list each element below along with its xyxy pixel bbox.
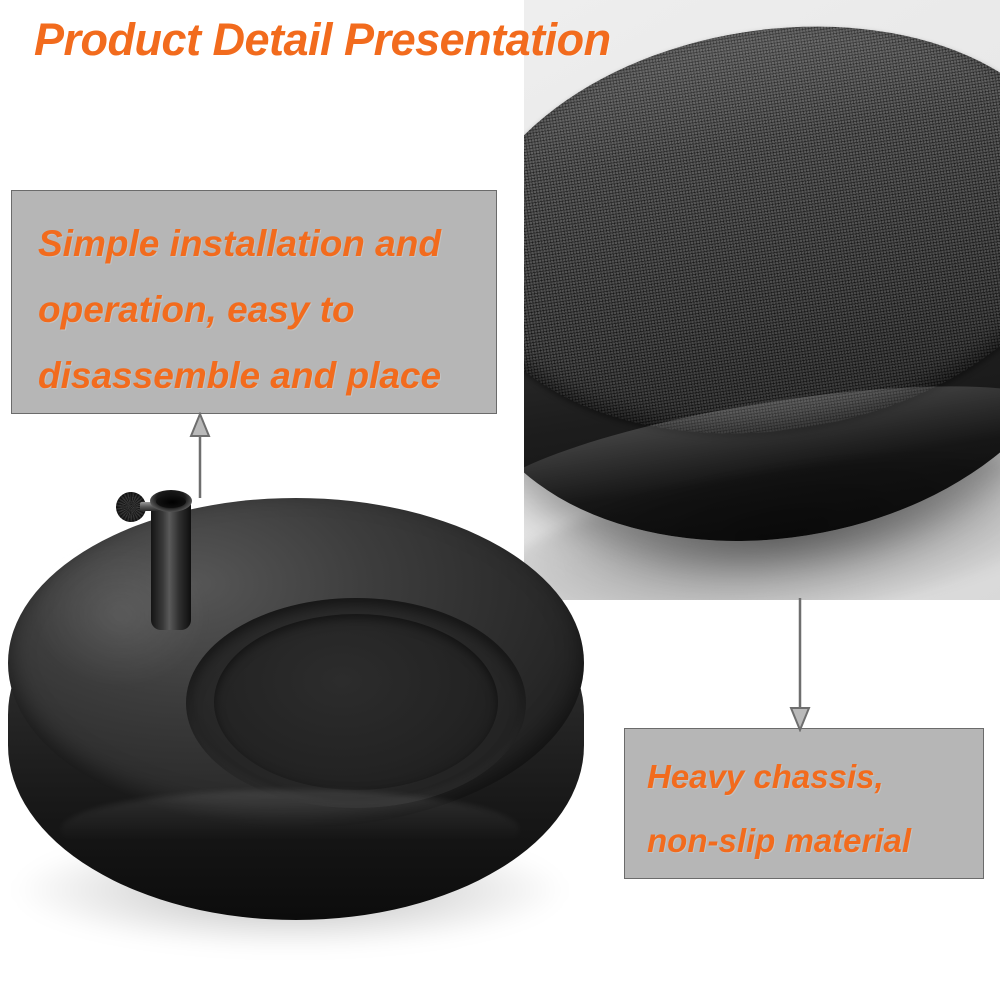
umbrella-base-photo (0, 420, 620, 1000)
base-edge-gloss (60, 790, 520, 870)
callout-installation-line-1: Simple installation and (38, 211, 496, 277)
callout-installation-line-2: operation, easy to (38, 277, 496, 343)
callout-chassis-line-1: Heavy chassis, (647, 745, 983, 809)
pole-socket-tube (151, 500, 191, 630)
arrow-down-icon (786, 598, 814, 732)
pole-socket-bore (156, 495, 186, 508)
product-detail-presentation: Product Detail Presentation Simple insta… (0, 0, 1000, 1000)
callout-box-chassis: Heavy chassis, non-slip material (624, 728, 984, 879)
base-recess-inner-ring (214, 614, 498, 790)
callout-installation-line-3: disassemble and place (38, 343, 496, 409)
arrow-up-icon (186, 412, 214, 498)
callout-chassis-line-2: non-slip material (647, 809, 983, 873)
callout-box-installation: Simple installation and operation, easy … (11, 190, 497, 414)
page-title: Product Detail Presentation (34, 14, 611, 66)
